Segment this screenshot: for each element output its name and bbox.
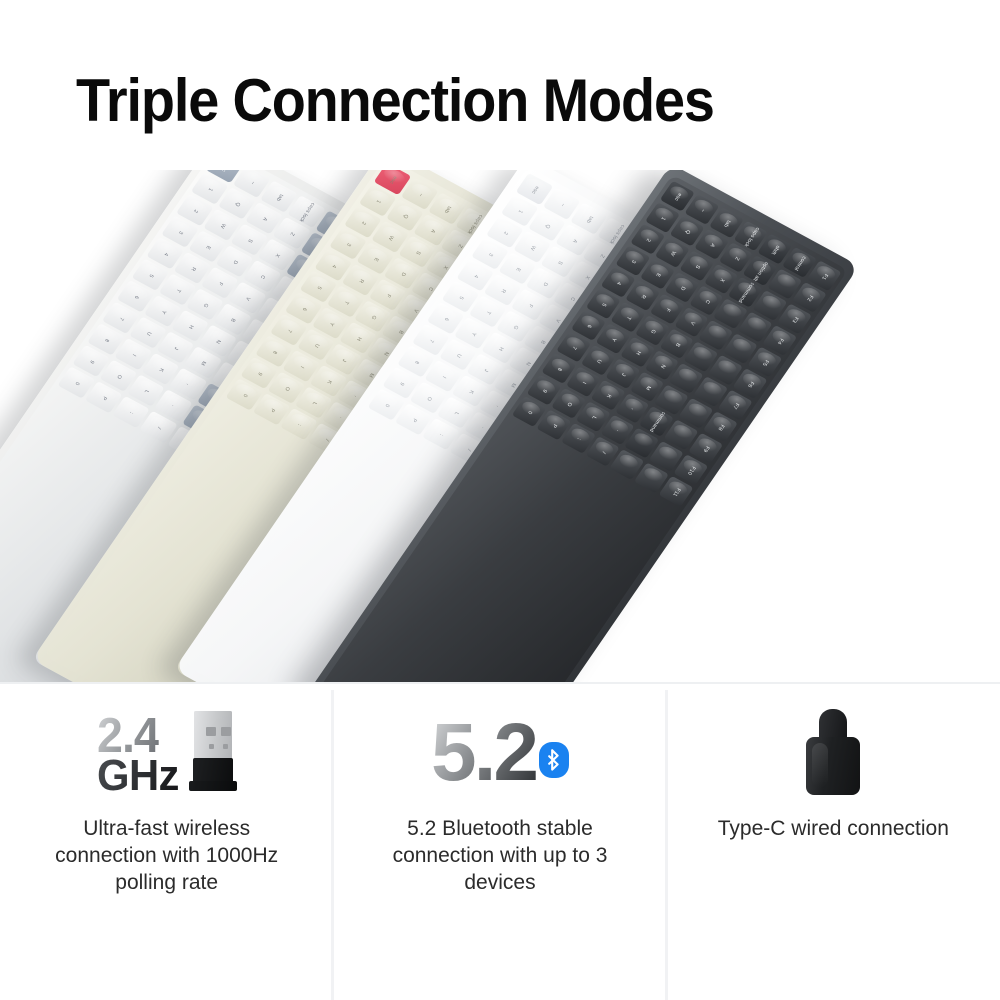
bluetooth-icon xyxy=(539,742,569,778)
feature-bluetooth: 5.2 5.2 Bluetooth stable connection with… xyxy=(333,690,666,1000)
keyboard-lineup: esc ~ tab caps lock shift control 1Q AZ … xyxy=(0,170,1000,682)
feature-row: 2.4 GHz Ultra-fast wi xyxy=(0,690,1000,1000)
usb-connector xyxy=(194,711,232,761)
bluetooth-lockup: 5.2 xyxy=(431,719,569,786)
feature-badge: 2.4 GHz xyxy=(97,690,237,815)
usb-dongle-icon xyxy=(189,711,237,795)
page-title: Triple Connection Modes xyxy=(76,66,714,135)
ghz-text: 2.4 GHz xyxy=(97,716,183,794)
ghz-unit: GHz xyxy=(97,758,179,795)
feature-caption: Ultra-fast wireless connection with 1000… xyxy=(41,815,293,896)
usb-slot xyxy=(221,727,231,736)
feature-badge xyxy=(804,690,862,815)
section-divider xyxy=(0,682,1000,684)
feature-typec: Type-C wired connection xyxy=(667,690,1000,1000)
usb-dot xyxy=(223,744,228,749)
usb-dot xyxy=(209,744,214,749)
feature-caption: Type-C wired connection xyxy=(707,815,959,842)
feature-24ghz: 2.4 GHz Ultra-fast wi xyxy=(0,690,333,1000)
feature-badge: 5.2 xyxy=(431,690,569,815)
ghz-lockup: 2.4 GHz xyxy=(97,711,237,795)
usb-base xyxy=(189,781,237,791)
product-feature-graphic: Triple Connection Modes esc ~ tab caps l… xyxy=(0,0,1000,1000)
bluetooth-version: 5.2 xyxy=(431,719,536,786)
feature-caption: 5.2 Bluetooth stable connection with up … xyxy=(374,815,626,896)
typec-highlight xyxy=(812,743,828,787)
usb-slot xyxy=(206,727,216,736)
usb-type-c-icon xyxy=(804,709,862,797)
